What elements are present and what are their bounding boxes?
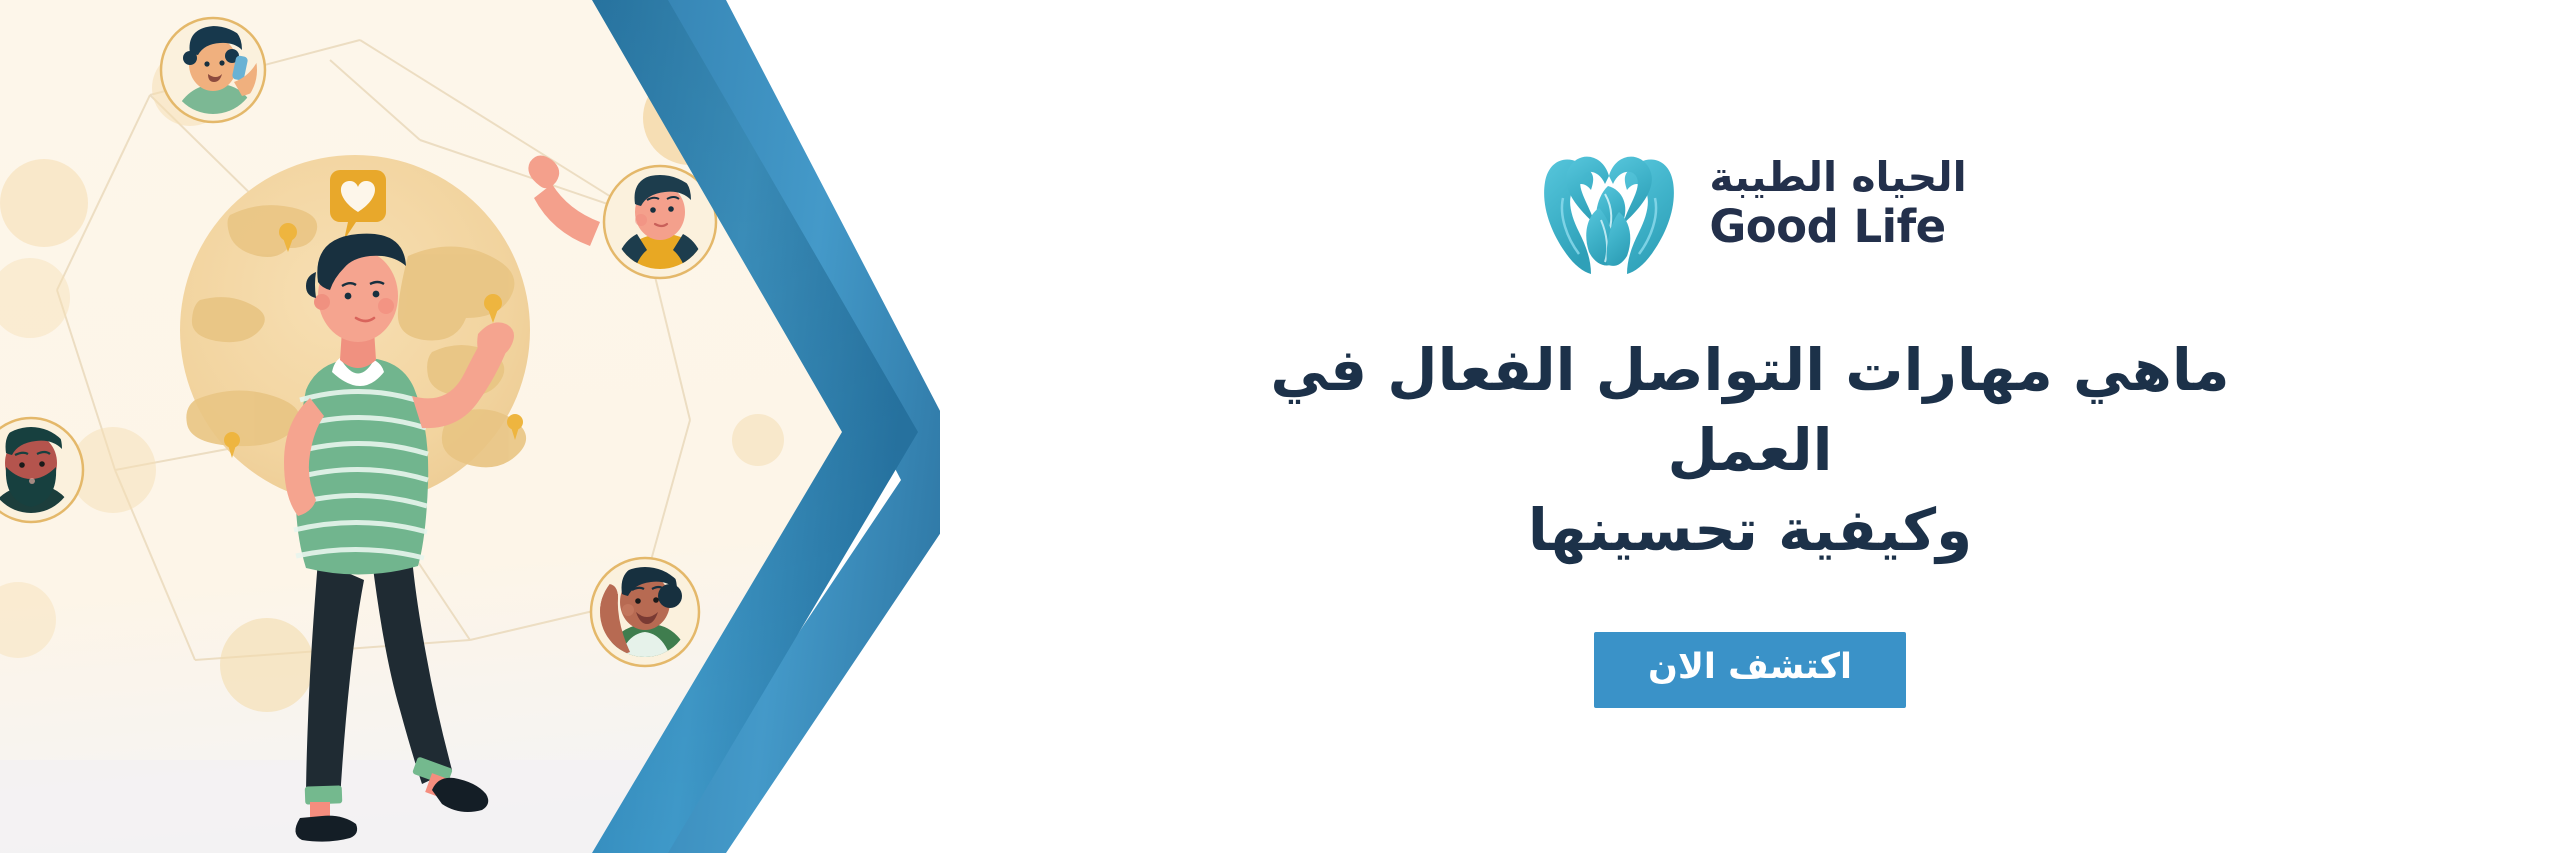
- headline-line-1: ماهي مهارات التواصل الفعال في العمل: [1270, 336, 2229, 484]
- hands-heart-leaf-logo-icon: [1533, 128, 1683, 278]
- promo-banner: الحياه الطيبة Good Life ماهي مهارات التو…: [0, 0, 2560, 853]
- illustration-panel: [0, 0, 940, 853]
- network-illustration: [0, 0, 940, 853]
- brand-logo[interactable]: الحياه الطيبة Good Life: [1533, 128, 1966, 278]
- headline-line-2: وكيفية تحسينها: [1528, 496, 1972, 564]
- logo-arabic-name: الحياه الطيبة: [1709, 156, 1966, 199]
- logo-wordmark: الحياه الطيبة Good Life: [1709, 156, 1966, 250]
- page-title: ماهي مهارات التواصل الفعال في العمل وكيف…: [1225, 330, 2275, 570]
- discover-now-button[interactable]: اكتشف الان: [1594, 632, 1906, 708]
- logo-english-name: Good Life: [1709, 203, 1945, 250]
- content-panel: الحياه الطيبة Good Life ماهي مهارات التو…: [940, 0, 2560, 853]
